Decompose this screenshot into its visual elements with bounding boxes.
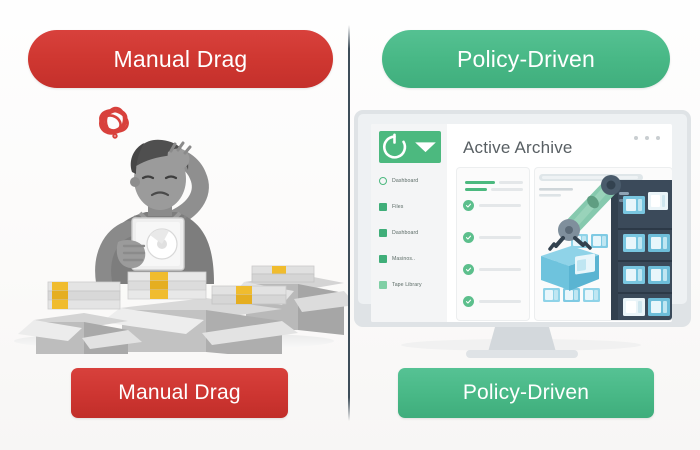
sidebar-item-dashboard-1[interactable]: Dashboard xyxy=(379,172,447,189)
checklist-card xyxy=(457,168,529,320)
window-dot xyxy=(656,136,660,140)
manual-drag-bottom-button[interactable]: Manual Drag xyxy=(71,368,288,418)
manual-drag-bottom-label: Manual Drag xyxy=(118,381,240,405)
sidebar-item-files[interactable]: Files xyxy=(379,198,447,215)
check-icon xyxy=(463,200,474,211)
monitor-screen: Dashboard Files Dashboard Masinos.. xyxy=(371,124,672,322)
page-title: Active Archive xyxy=(463,138,573,158)
manual-drag-illustration xyxy=(0,96,348,354)
sidebar-item-label: Masinos.. xyxy=(392,256,415,262)
window-dot xyxy=(645,136,649,140)
sidebar-menu: Dashboard Files Dashboard Masinos.. xyxy=(379,172,447,302)
manual-drag-top-button[interactable]: Manual Drag xyxy=(28,30,333,88)
title-bar xyxy=(465,188,487,191)
check-icon xyxy=(463,264,474,275)
title-bar xyxy=(465,181,495,184)
checkbox-icon xyxy=(379,281,387,289)
row-placeholder xyxy=(479,204,521,207)
sidebar-item-label: Tape Library xyxy=(392,282,422,288)
row-placeholder xyxy=(479,300,521,303)
carried-tape-unit xyxy=(541,246,599,291)
policy-driven-illustration: Dashboard Files Dashboard Masinos.. xyxy=(349,108,700,358)
left-panel-manual-drag: Manual Drag xyxy=(0,0,348,450)
policy-driven-top-label: Policy-Driven xyxy=(457,46,595,73)
manual-drag-top-label: Manual Drag xyxy=(114,46,248,73)
check-icon xyxy=(463,232,474,243)
sidebar-item-tape-library[interactable]: Tape Library xyxy=(379,276,447,293)
row-placeholder xyxy=(479,268,521,271)
sidebar-item-label: Files xyxy=(392,204,403,210)
tape-library-card xyxy=(535,168,672,320)
row-placeholder xyxy=(479,236,521,239)
tape-rack xyxy=(611,180,672,320)
square-icon xyxy=(379,255,387,263)
tape-stack-right xyxy=(212,286,286,304)
policy-driven-bottom-button[interactable]: Policy-Driven xyxy=(398,368,654,418)
poster-canvas: Manual Drag xyxy=(0,0,700,450)
title-bar-dim xyxy=(491,188,523,191)
right-panel-policy-driven: Policy-Driven xyxy=(349,0,700,450)
chevron-down-icon xyxy=(410,131,441,163)
window-dot xyxy=(634,136,638,140)
app-logo-block[interactable] xyxy=(379,131,441,163)
sidebar-item-label: Dashboard xyxy=(392,178,418,184)
policy-driven-top-button[interactable]: Policy-Driven xyxy=(382,30,670,88)
sidebar-item-label: Dashboard xyxy=(392,230,418,236)
title-bar-dim xyxy=(499,181,523,184)
sidebar-item-masinos[interactable]: Masinos.. xyxy=(379,250,447,267)
folder-icon xyxy=(379,203,387,211)
tape-stack-back xyxy=(252,266,314,282)
power-refresh-icon xyxy=(379,131,410,163)
frustration-scribble-icon xyxy=(97,107,131,138)
check-icon xyxy=(463,296,474,307)
square-icon xyxy=(379,229,387,237)
tape-stack-left xyxy=(48,282,120,309)
window-dots xyxy=(634,136,660,140)
sidebar-item-dashboard-2[interactable]: Dashboard xyxy=(379,224,447,241)
tape-stack-center xyxy=(128,272,206,299)
circle-outline-icon xyxy=(379,177,387,185)
policy-driven-bottom-label: Policy-Driven xyxy=(463,381,589,405)
